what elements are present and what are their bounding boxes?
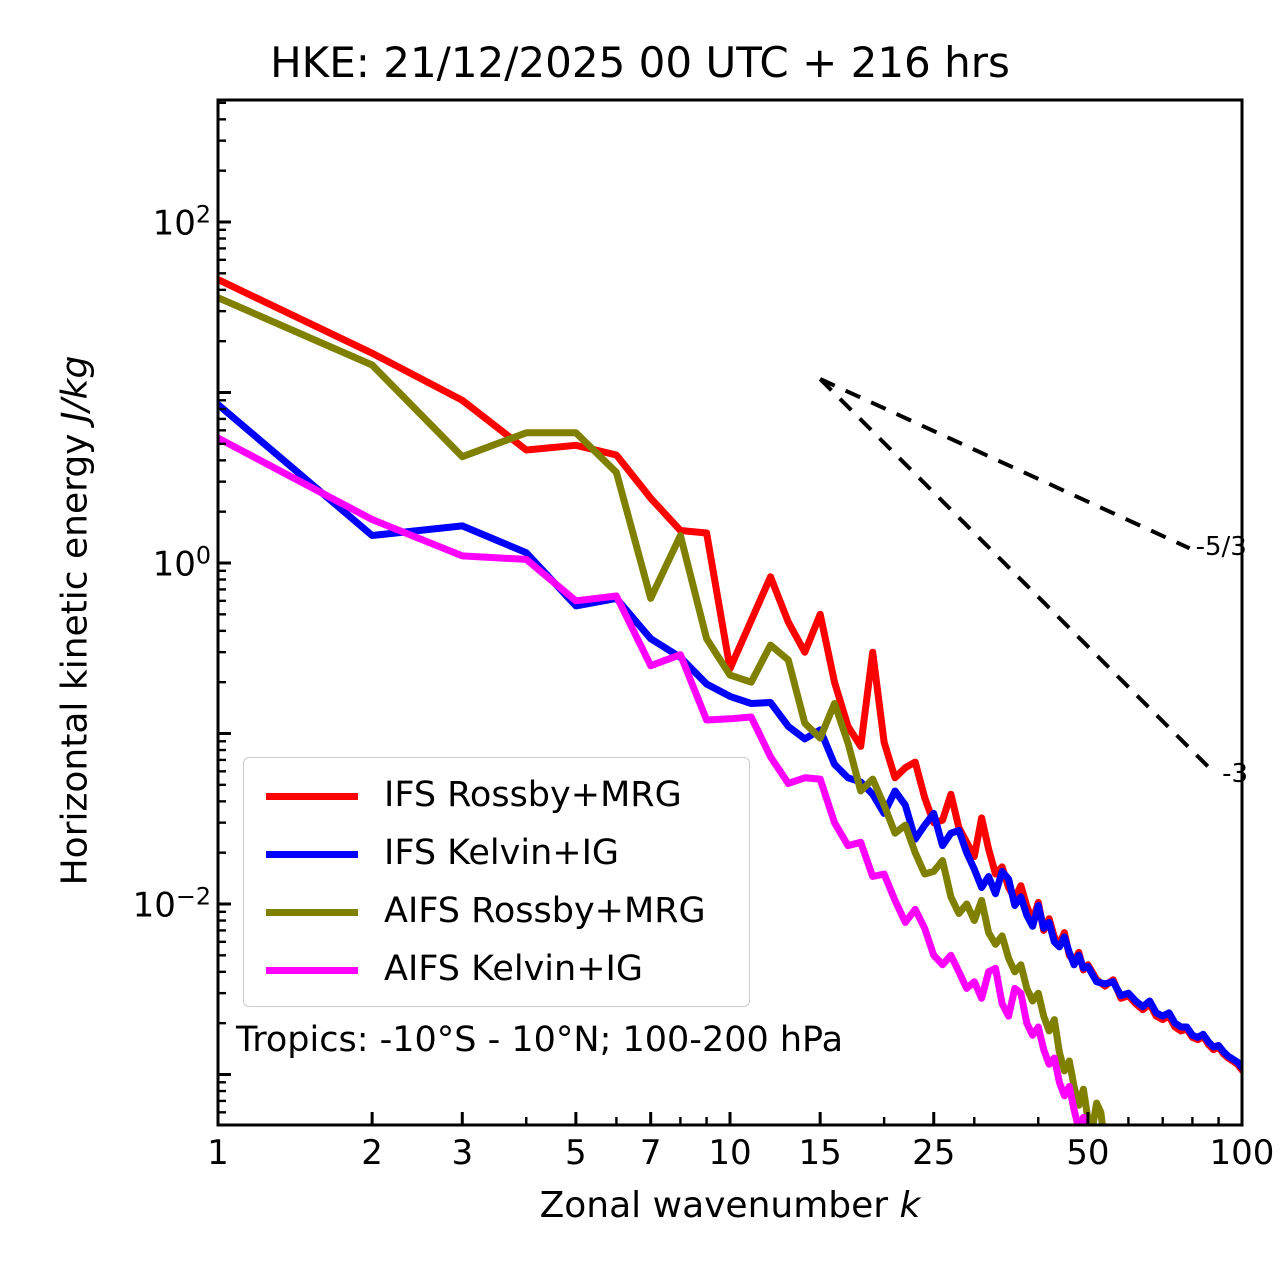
x-tick-label-9: 100: [1210, 1133, 1275, 1173]
legend-item-2[interactable]: AIFS Rossby+MRG: [244, 884, 749, 942]
legend-color-swatch: [266, 967, 358, 974]
legend-item-3[interactable]: AIFS Kelvin+IG: [244, 942, 749, 1000]
region-annotation: Tropics: -10°S - 10°N; 100-200 hPa: [236, 1020, 843, 1060]
y-tick-label-2: 10−2: [133, 882, 211, 925]
legend-item-label: AIFS Rossby+MRG: [384, 891, 706, 931]
legend-item-0[interactable]: IFS Rossby+MRG: [244, 768, 749, 826]
x-tick-label-6: 15: [799, 1133, 842, 1173]
x-tick-label-7: 25: [912, 1133, 955, 1173]
x-tick-label-5: 10: [708, 1133, 751, 1173]
x-tick-label-0: 1: [207, 1133, 229, 1173]
reference-line-5-3: [820, 379, 1189, 548]
legend-item-label: IFS Kelvin+IG: [384, 833, 619, 873]
y-tick-base: 10: [153, 204, 196, 244]
y-tick-exponent: −2: [176, 882, 211, 910]
x-tick-label-1: 2: [361, 1133, 383, 1173]
x-tick-label-3: 5: [565, 1133, 587, 1173]
legend-color-swatch: [266, 793, 358, 800]
legend-item-label: AIFS Kelvin+IG: [384, 949, 643, 989]
legend-color-swatch: [266, 909, 358, 916]
y-tick-exponent: 0: [196, 541, 211, 569]
legend-item-label: IFS Rossby+MRG: [384, 775, 682, 815]
slope-label-3: -3: [1222, 759, 1248, 789]
y-tick-label-0: 102: [153, 200, 211, 243]
y-tick-exponent: 2: [196, 200, 211, 228]
legend-color-swatch: [266, 851, 358, 858]
plot-area: [0, 0, 1280, 1288]
x-tick-label-8: 50: [1066, 1133, 1109, 1173]
y-tick-base: 10: [153, 545, 196, 585]
chart-figure: HKE: 21/12/2025 00 UTC + 216 hrs Horizon…: [0, 0, 1280, 1288]
slope-label-5-3: -5/3: [1196, 532, 1247, 562]
y-tick-base: 10: [133, 886, 176, 926]
legend: IFS Rossby+MRGIFS Kelvin+IGAIFS Rossby+M…: [243, 757, 750, 1007]
x-tick-label-4: 7: [640, 1133, 662, 1173]
y-tick-label-1: 100: [153, 541, 211, 584]
legend-item-1[interactable]: IFS Kelvin+IG: [244, 826, 749, 884]
x-tick-label-2: 3: [451, 1133, 473, 1173]
